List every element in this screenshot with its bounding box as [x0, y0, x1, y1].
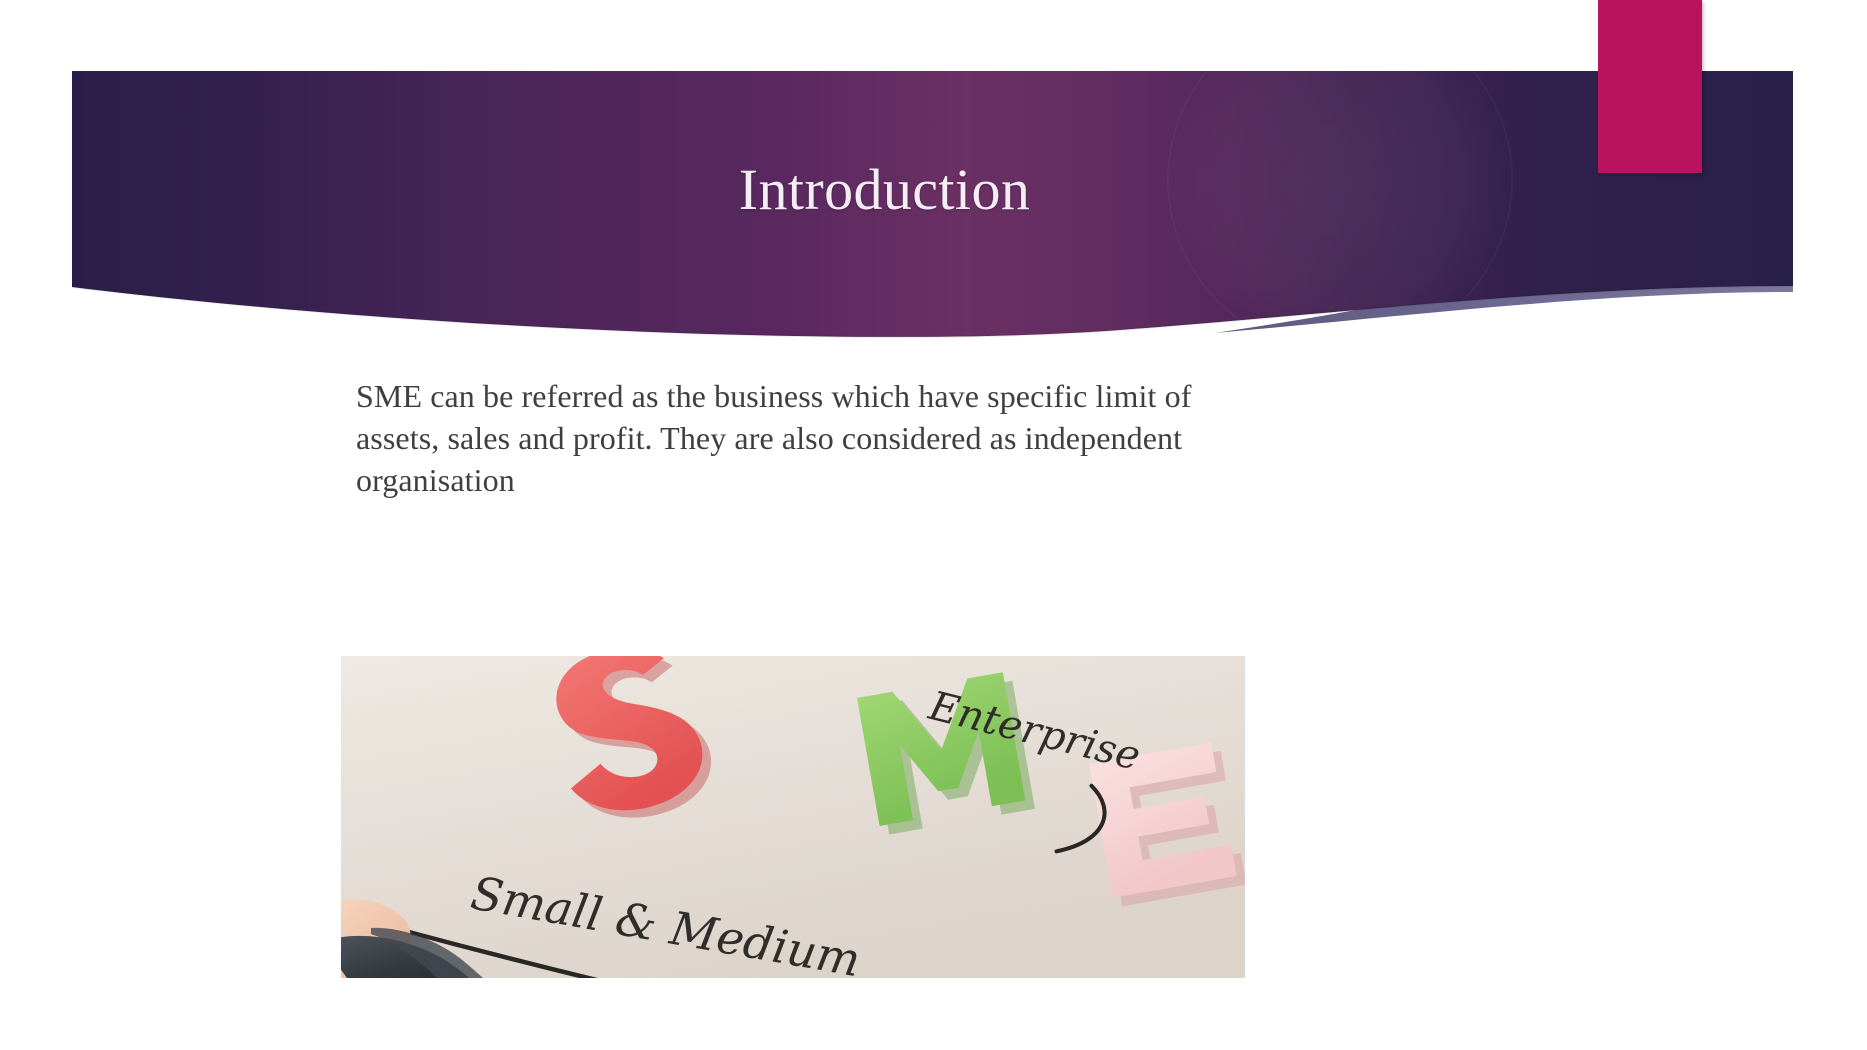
slide-canvas: Introduction SME can be referred as the …: [0, 0, 1867, 1050]
banner-accent-band: [1215, 225, 1793, 333]
magenta-accent-bar: [1598, 0, 1702, 173]
page-title: Introduction: [72, 160, 1697, 221]
body-paragraph: SME can be referred as the business whic…: [356, 375, 1256, 502]
sme-photo: Small & Medium Enterprise: [341, 656, 1245, 978]
